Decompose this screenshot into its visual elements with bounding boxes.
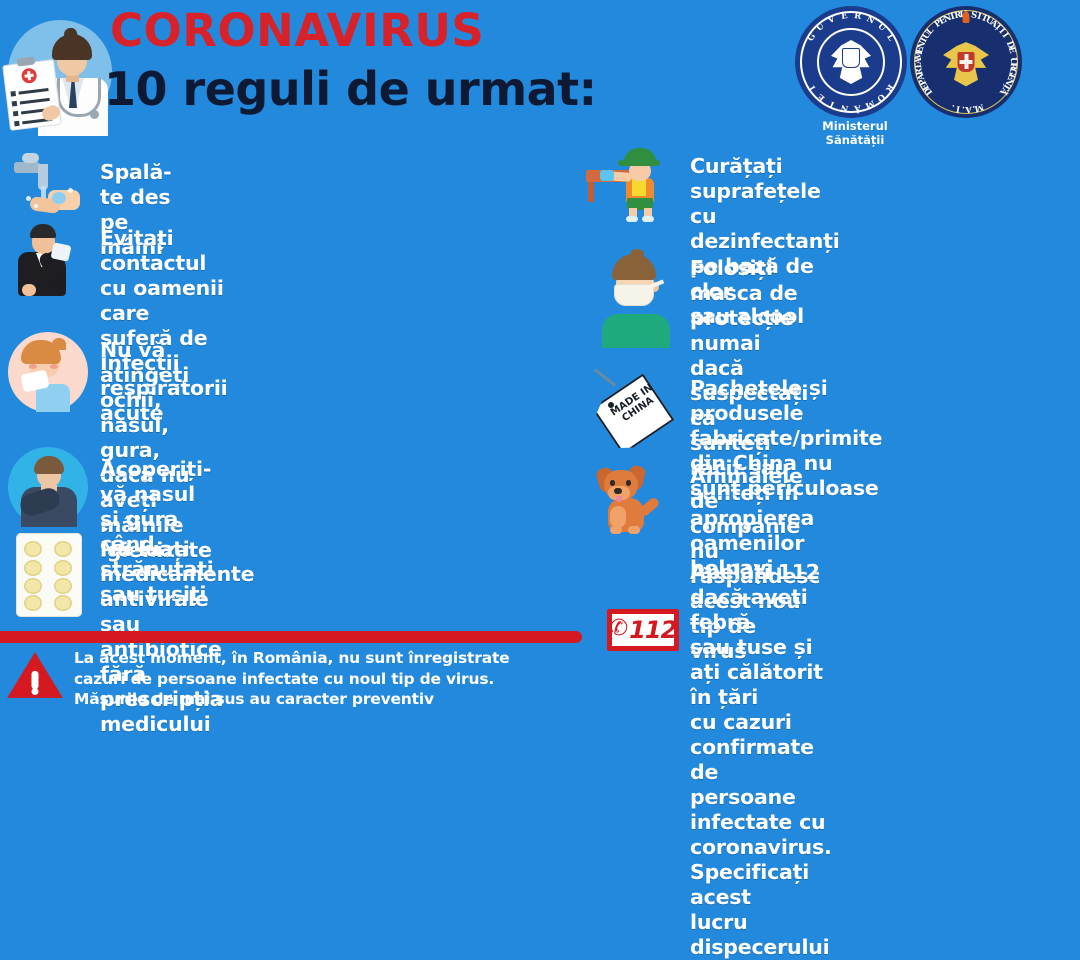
boy-cleaning-table-icon <box>586 148 682 222</box>
person-wearing-face-mask-icon <box>596 252 676 344</box>
ministry-of-health-caption: Ministerul Sănătății <box>795 119 915 147</box>
emergency-number-label: 112 <box>629 616 676 644</box>
made-in-china-tag-icon: MADE IN CHINA <box>588 372 684 452</box>
departamentul-pentru-situatii-de-urgenta-seal: DEPARTAMENTUL PENTRU SITUAȚII DE URGENȚĂ… <box>910 6 1022 118</box>
guvernul-romaniei-seal: GUVERNULROMÂNIEI <box>795 6 907 118</box>
doctor-with-clipboard-icon <box>2 14 114 138</box>
page-subtitle-rules: 10 reguli de urmat: <box>104 62 597 116</box>
pills-blister-pack-icon <box>16 533 82 617</box>
faucet-handwash-icon <box>8 152 86 218</box>
phone-handset-icon: ✆ <box>610 618 628 640</box>
red-divider <box>0 631 582 643</box>
rule-text: Apelați 112 dacă aveti febră sau tuse și… <box>690 560 832 960</box>
person-covering-mouth-icon <box>8 447 88 527</box>
child-sneezing-tissue-icon <box>8 332 88 412</box>
page-title-coronavirus: CORONAVIRUS <box>110 4 484 57</box>
coronavirus-infographic-poster: CORONAVIRUS 10 reguli de urmat: GUVERNUL… <box>0 0 1080 714</box>
pet-dog-icon <box>594 462 674 542</box>
poster-header: CORONAVIRUS 10 reguli de urmat: GUVERNUL… <box>0 0 1080 146</box>
footer-disclaimer-note: La acest moment, în România, nu sunt înr… <box>74 648 574 710</box>
emergency-112-logo: ✆ 112 <box>607 609 679 651</box>
coughing-man-tissue-icon <box>8 222 86 300</box>
warning-triangle-icon <box>6 650 64 702</box>
